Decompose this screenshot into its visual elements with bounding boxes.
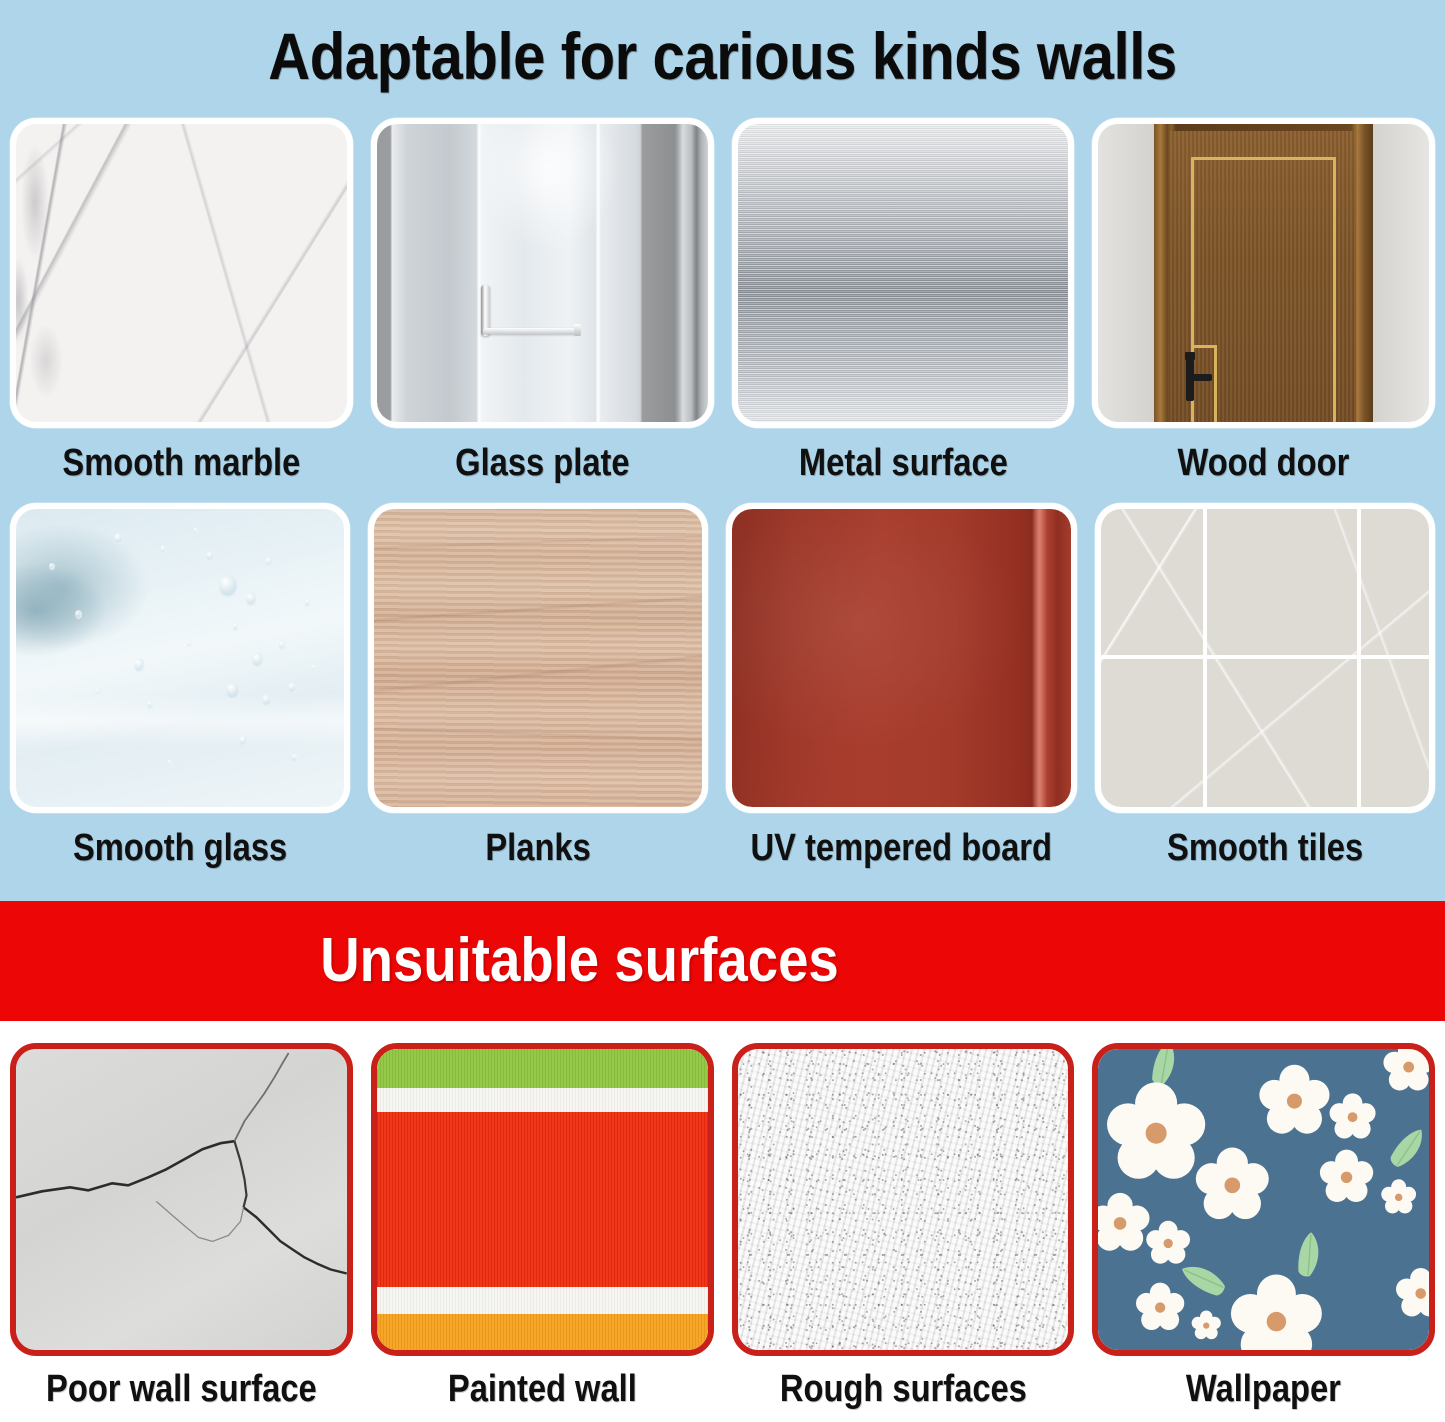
poor-wall-surface-card [10,1043,353,1356]
uv-tempered-board-card [726,503,1077,813]
surface-item-planks: Planks [368,503,708,871]
surface-item-wallpaper: Wallpaper [1092,1043,1435,1412]
wall-left-area [1098,124,1158,422]
tile-grout-grid [1101,509,1429,807]
smooth-marble-swatch [16,124,347,422]
wallpaper-card [1092,1043,1435,1356]
surface-item-smooth-tiles: Smooth tiles [1095,503,1435,871]
smooth-tiles-label: Smooth tiles [1119,825,1412,871]
wallpaper-swatch [1098,1049,1429,1350]
door-push-bar-icon [483,328,579,334]
painted-wall-card [371,1043,714,1356]
infographic-page: Adaptable for carious kinds walls Smooth… [0,0,1445,1422]
glass-plate-label: Glass plate [395,440,690,486]
smooth-glass-card [10,503,350,813]
smooth-glass-swatch [16,509,344,807]
metal-surface-label: Metal surface [755,440,1050,486]
water-droplets-group [16,509,344,807]
paint-texture-overlay [377,1049,708,1350]
smooth-marble-card [10,118,353,428]
surface-item-glass-plate: Glass plate [371,118,714,486]
door-push-bar-cap-icon [574,324,581,337]
smooth-glass-label: Smooth glass [34,825,327,871]
wall-right-area [1373,124,1429,422]
wood-door-label: Wood door [1116,440,1411,486]
suitable-grid-row-2: Smooth glass Planks UV tempered boa [10,503,1435,871]
wood-door-swatch [1098,124,1429,422]
board-soft-shading [732,509,1071,807]
painted-wall-label: Painted wall [395,1366,690,1412]
planks-card [368,503,708,813]
metal-surface-swatch [738,124,1069,422]
wallpaper-label: Wallpaper [1116,1366,1411,1412]
suitable-surfaces-section: Adaptable for carious kinds walls Smooth… [0,0,1445,901]
uv-tempered-board-label: UV tempered board [751,825,1052,871]
surface-item-wood-door: Wood door [1092,118,1435,486]
wood-grain-overlay [374,509,702,807]
unsuitable-banner: Unsuitable surfaces [0,901,1445,1021]
door-gold-inlay-step [1191,345,1216,348]
stucco-stipple-overlay [738,1049,1069,1350]
unsuitable-grid-row: Poor wall surface Painted wall [10,1043,1435,1412]
smooth-marble-label: Smooth marble [34,440,329,486]
door-gold-inlay [1191,157,1337,422]
painted-wall-swatch [377,1049,708,1350]
surface-item-painted-wall: Painted wall [371,1043,714,1412]
page-title: Adaptable for carious kinds walls [87,13,1359,99]
surface-item-smooth-marble: Smooth marble [10,118,353,486]
wall-crack-lines [16,1049,347,1350]
surface-item-rough-surfaces: Rough surfaces [732,1043,1075,1412]
surface-item-smooth-glass: Smooth glass [10,503,350,871]
planks-label: Planks [392,825,685,871]
planks-swatch [374,509,702,807]
suitable-grid-row-1: Smooth marble Glass plate Metal s [10,118,1435,486]
board-gloss-highlight [1032,509,1047,807]
door-handle-lever-icon [1186,374,1212,381]
poor-wall-surface-label: Poor wall surface [34,1366,329,1412]
unsuitable-banner-title: Unsuitable surfaces [87,922,1359,1000]
wood-door-card [1092,118,1435,428]
glass-plate-card [371,118,714,428]
floral-pattern [1098,1049,1429,1350]
surface-item-uv-tempered-board: UV tempered board [726,503,1077,871]
metal-surface-card [732,118,1075,428]
rough-surfaces-label: Rough surfaces [755,1366,1050,1412]
surface-item-metal-surface: Metal surface [732,118,1075,486]
surface-item-poor-wall-surface: Poor wall surface [10,1043,353,1412]
rough-surfaces-card [732,1043,1075,1356]
smooth-tiles-swatch [1101,509,1429,807]
uv-tempered-board-swatch [732,509,1071,807]
poor-wall-surface-swatch [16,1049,347,1350]
glass-reflection-highlight [476,124,622,255]
rough-surfaces-swatch [738,1049,1069,1350]
glass-plate-swatch [377,124,708,422]
smooth-tiles-card [1095,503,1435,813]
door-gold-inlay-drop [1214,345,1217,422]
